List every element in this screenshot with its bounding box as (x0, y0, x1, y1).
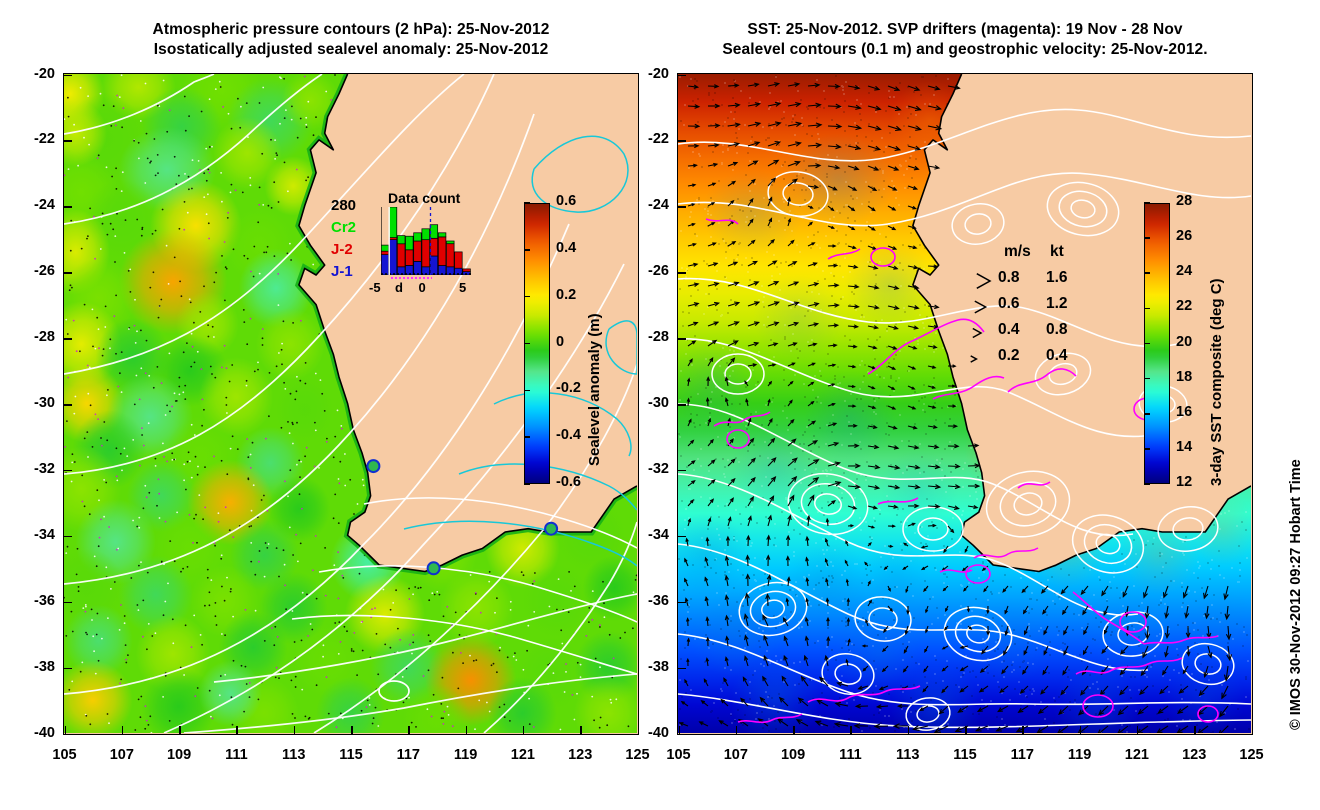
velocity-arrow-icon (962, 271, 992, 291)
right-axis-xtick (1137, 726, 1139, 734)
right-axis-ytick-label: -30 (625, 395, 669, 411)
right-axis-ytick (678, 734, 686, 736)
right-axis-xtick-label: 113 (882, 747, 934, 763)
velocity-legend-kt-3: 0.4 (1046, 347, 1068, 365)
right-axis-xtick-label: 115 (939, 747, 991, 763)
left-axis-ytick-label: -24 (11, 197, 55, 213)
velocity-legend-header-ms: m/s (1004, 243, 1031, 261)
left-axis-ytick (64, 668, 72, 670)
sealevel-cbar-label: 0.2 (556, 287, 576, 303)
sealevel-cbar-tick (524, 296, 530, 298)
inset-xtick-label: -5 (369, 280, 381, 295)
velocity-legend-ms-3: 0.2 (998, 347, 1020, 365)
inset-series-j1: J-1 (331, 263, 353, 280)
inset-histogram-title: Data count (388, 190, 460, 206)
velocity-arrow-icon (962, 349, 992, 369)
inset-xtick-label: 5 (459, 280, 466, 295)
sealevel-cbar-tick (524, 483, 530, 485)
left-axis-ytick (64, 338, 72, 340)
right-axis-xtick (736, 726, 738, 734)
sst-cbar-label: 20 (1176, 334, 1192, 350)
left-map-plot[interactable] (63, 73, 639, 735)
left-axis-ytick-label: -22 (11, 131, 55, 147)
sst-cbar-tick (1144, 237, 1150, 239)
left-axis-xtick-label: 121 (497, 747, 549, 763)
sst-cbar-tick (1144, 308, 1150, 310)
left-axis-xtick (351, 726, 353, 734)
right-axis-xtick-label: 123 (1168, 747, 1220, 763)
right-axis-xtick (850, 726, 852, 734)
sealevel-cbar-tick (524, 436, 530, 438)
left-axis-xtick-label: 107 (96, 747, 148, 763)
sst-cbar-label: 24 (1176, 263, 1192, 279)
right-axis-ytick-label: -32 (625, 461, 669, 477)
right-axis-xtick (1080, 726, 1082, 734)
left-axis-ytick-label: -30 (11, 395, 55, 411)
sealevel-cbar-label: 0.6 (556, 193, 576, 209)
right-axis-xtick (1022, 726, 1024, 734)
velocity-legend-ms-0: 0.8 (998, 269, 1020, 287)
sealevel-cbar-label: 0 (556, 334, 564, 350)
right-axis-xtick (908, 726, 910, 734)
sst-colorbar-title: 3-day SST composite (deg C) (1208, 278, 1225, 486)
left-axis-ytick-label: -36 (11, 593, 55, 609)
sst-cbar-tick (1144, 343, 1150, 345)
left-axis-ytick (64, 536, 72, 538)
right-axis-xtick (1194, 726, 1196, 734)
velocity-legend-header-kt: kt (1050, 243, 1064, 261)
right-axis-ytick (678, 75, 686, 77)
sst-cbar-label: 18 (1176, 369, 1192, 385)
left-panel-title: Atmospheric pressure contours (2 hPa): 2… (63, 20, 639, 60)
velocity-legend-ms-1: 0.6 (998, 295, 1020, 313)
right-axis-xtick (1252, 726, 1254, 734)
inset-magenta-axis (391, 277, 432, 279)
right-axis-ytick (678, 272, 686, 274)
sealevel-cbar-tick (524, 202, 530, 204)
right-panel-title: SST: 25-Nov-2012. SVP drifters (magenta)… (677, 20, 1253, 60)
right-axis-xtick-label: 107 (710, 747, 762, 763)
right-axis-ytick-label: -34 (625, 527, 669, 543)
left-axis-ytick (64, 404, 72, 406)
left-axis-xtick (179, 726, 181, 734)
right-axis-xtick-label: 119 (1054, 747, 1106, 763)
sst-cbar-tick (1144, 272, 1150, 274)
right-axis-ytick-label: -38 (625, 659, 669, 675)
left-axis-ytick (64, 75, 72, 77)
right-axis-xtick-label: 105 (653, 747, 705, 763)
inset-series-cr2: Cr2 (331, 219, 356, 236)
left-axis-ytick (64, 140, 72, 142)
sst-cbar-tick (1144, 483, 1150, 485)
right-axis-ytick-label: -20 (625, 66, 669, 82)
sst-cbar-label: 16 (1176, 404, 1192, 420)
left-axis-ytick-label: -32 (11, 461, 55, 477)
left-axis-ytick-label: -38 (11, 659, 55, 675)
left-axis-ytick-label: -34 (11, 527, 55, 543)
right-axis-xtick-label: 109 (767, 747, 819, 763)
right-axis-ytick (678, 536, 686, 538)
velocity-legend-kt-2: 0.8 (1046, 321, 1068, 339)
left-axis-xtick (466, 726, 468, 734)
inset-series-j2: J-2 (331, 241, 353, 258)
sst-cbar-label: 12 (1176, 474, 1192, 490)
sst-cbar-label: 26 (1176, 228, 1192, 244)
sst-cbar-tick (1144, 448, 1150, 450)
left-axis-xtick-label: 115 (325, 747, 377, 763)
velocity-legend-ms-2: 0.4 (998, 321, 1020, 339)
sealevel-cbar-label: -0.6 (556, 474, 581, 490)
left-axis-ytick (64, 602, 72, 604)
left-axis-xtick-label: 111 (210, 747, 262, 763)
sealevel-cbar-tick (524, 249, 530, 251)
sealevel-cbar-label: -0.4 (556, 427, 581, 443)
left-axis-ytick-label: -26 (11, 263, 55, 279)
left-axis-xtick (408, 726, 410, 734)
left-axis-xtick-label: 117 (382, 747, 434, 763)
sst-cbar-tick (1144, 202, 1150, 204)
right-axis-ytick (678, 470, 686, 472)
right-axis-ytick (678, 206, 686, 208)
sst-cbar-label: 14 (1176, 439, 1192, 455)
sealevel-cbar-label: 0.4 (556, 240, 576, 256)
left-axis-xtick (523, 726, 525, 734)
left-axis-ytick (64, 734, 72, 736)
sealevel-cbar-tick (524, 343, 530, 345)
left-axis-xtick (236, 726, 238, 734)
velocity-arrow-icon (962, 323, 992, 343)
left-title-line2: Isostatically adjusted sealevel anomaly:… (63, 40, 639, 60)
left-axis-xtick (122, 726, 124, 734)
inset-histogram (381, 207, 471, 275)
right-axis-ytick-label: -24 (625, 197, 669, 213)
left-axis-xtick (294, 726, 296, 734)
right-axis-ytick (678, 602, 686, 604)
right-axis-xtick (793, 726, 795, 734)
left-axis-xtick (580, 726, 582, 734)
velocity-legend-kt-1: 1.2 (1046, 295, 1068, 313)
left-axis-xtick-label: 105 (39, 747, 91, 763)
inset-count-label: 280 (331, 197, 356, 214)
sealevel-cbar-tick (524, 390, 530, 392)
right-axis-ytick (678, 140, 686, 142)
right-axis-ytick (678, 338, 686, 340)
left-axis-ytick-label: -40 (11, 725, 55, 741)
right-axis-ytick-label: -40 (625, 725, 669, 741)
sst-cbar-tick (1144, 413, 1150, 415)
right-axis-ytick-label: -28 (625, 329, 669, 345)
left-axis-xtick-label: 119 (440, 747, 492, 763)
inset-xtick-label: 0 (419, 280, 426, 295)
right-axis-xtick-label: 111 (824, 747, 876, 763)
right-axis-ytick (678, 668, 686, 670)
right-title-line1: SST: 25-Nov-2012. SVP drifters (magenta)… (677, 20, 1253, 40)
right-axis-ytick-label: -26 (625, 263, 669, 279)
right-axis-ytick-label: -36 (625, 593, 669, 609)
right-axis-xtick-label: 121 (1111, 747, 1163, 763)
sealevel-cbar-label: -0.2 (556, 380, 581, 396)
left-axis-ytick (64, 470, 72, 472)
inset-d-label: d (395, 280, 403, 295)
velocity-legend-kt-0: 1.6 (1046, 269, 1068, 287)
left-axis-ytick (64, 272, 72, 274)
right-axis-ytick (678, 404, 686, 406)
left-axis-ytick-label: -28 (11, 329, 55, 345)
left-axis-ytick (64, 206, 72, 208)
sealevel-colorbar-title: Sealevel anomaly (m) (586, 313, 603, 466)
left-axis-ytick-label: -20 (11, 66, 55, 82)
right-title-line2: Sealevel contours (0.1 m) and geostrophi… (677, 40, 1253, 60)
copyright-text: © IMOS 30-Nov-2012 09:27 Hobart Time (1288, 459, 1304, 730)
sst-cbar-label: 22 (1176, 298, 1192, 314)
right-axis-ytick-label: -22 (625, 131, 669, 147)
left-title-line1: Atmospheric pressure contours (2 hPa): 2… (63, 20, 639, 40)
velocity-arrow-icon (962, 297, 992, 317)
sst-cbar-label: 28 (1176, 193, 1192, 209)
right-axis-xtick-label: 117 (996, 747, 1048, 763)
left-axis-xtick-label: 113 (268, 747, 320, 763)
right-axis-xtick (965, 726, 967, 734)
left-axis-xtick-label: 123 (554, 747, 606, 763)
sst-cbar-tick (1144, 378, 1150, 380)
right-axis-xtick-label: 125 (1226, 747, 1278, 763)
left-axis-xtick-label: 109 (153, 747, 205, 763)
